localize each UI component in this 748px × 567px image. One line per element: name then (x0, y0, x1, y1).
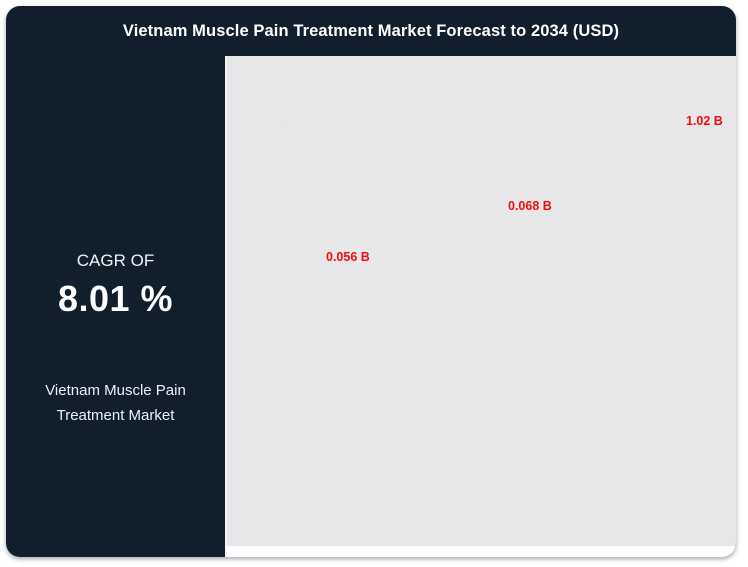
market-name-line-1: Vietnam Muscle Pain (6, 378, 225, 403)
data-label-2025: 0.068 B (508, 199, 552, 213)
watermark-artifact: .. (280, 117, 292, 129)
infographic-root: Vietnam Muscle Pain Treatment Market For… (0, 0, 748, 567)
data-label-2024: 0.056 B (326, 250, 370, 264)
data-label-2034: 1.02 B (686, 114, 723, 128)
chart-baseline-strip (227, 546, 736, 557)
chart-panel: .. 0.056 B 0.068 B 1.02 B (225, 56, 736, 557)
stat-panel: CAGR OF 8.01 % Vietnam Muscle Pain Treat… (6, 56, 225, 557)
chart-plot-area: .. 0.056 B 0.068 B 1.02 B (227, 56, 736, 557)
page-title: Vietnam Muscle Pain Treatment Market For… (6, 6, 736, 56)
market-name: Vietnam Muscle Pain Treatment Market (6, 378, 225, 428)
cagr-value: 8.01 % (6, 278, 225, 320)
cagr-label: CAGR OF (6, 251, 225, 271)
infographic-card: Vietnam Muscle Pain Treatment Market For… (6, 6, 736, 557)
market-name-line-2: Treatment Market (6, 403, 225, 428)
